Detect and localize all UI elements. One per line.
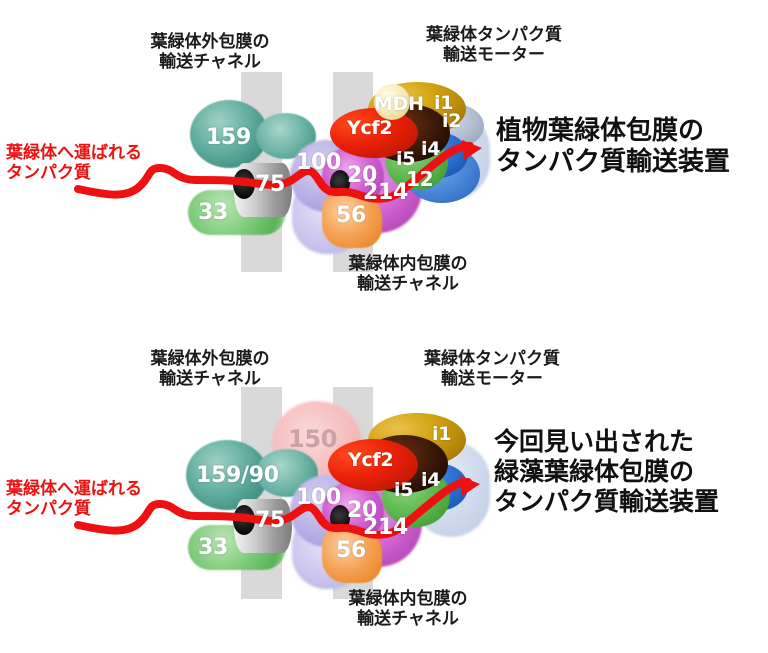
outer-membrane-pore (233, 505, 255, 535)
label-toc33: 33 (198, 535, 228, 560)
label-i5: i5 (394, 479, 413, 501)
label-tic100: 100 (296, 150, 341, 175)
label-tic12: 12 (406, 167, 433, 191)
label-i4: i4 (421, 138, 440, 160)
caption-outer-channel-top: 葉緑体外包膜の 輸送チャネル (112, 32, 308, 72)
label-ycf2: Ycf2 (348, 449, 393, 471)
label-toc150-absent: 150 (288, 425, 337, 453)
caption-motor-bottom: 葉緑体タンパク質 輸送モーター (390, 349, 594, 389)
caption-inner-channel-bottom: 葉緑体内包膜の 輸送チャネル (312, 589, 504, 629)
diagram-stage-plant: 159 75 33 100 20 214 56 MDH Ycf2 i1 i2 i… (0, 0, 768, 326)
caption-outer-channel-bottom: 葉緑体外包膜の 輸送チャネル (112, 349, 308, 389)
panel-title-green-alga: 今回見い出された 緑藻葉緑体包膜の タンパク質輸送装置 (494, 427, 766, 517)
label-i2: i2 (442, 110, 461, 132)
label-ycf2: Ycf2 (347, 117, 392, 139)
label-toc75: 75 (255, 508, 285, 533)
caption-cargo-protein-top: 葉緑体へ運ばれる タンパク質 (6, 143, 160, 183)
label-i1: i1 (432, 423, 451, 445)
label-toc33: 33 (198, 200, 228, 225)
diagram-stage-green-alga: 150 159/90 75 33 100 20 214 56 Ycf2 i1 i… (0, 327, 768, 653)
label-tic100: 100 (296, 485, 341, 510)
outer-membrane-pore (233, 169, 255, 199)
label-tic214: 214 (363, 515, 408, 540)
caption-inner-channel-top: 葉緑体内包膜の 輸送チャネル (312, 254, 504, 294)
panel-title-plant: 植物葉緑体包膜の タンパク質輸送装置 (496, 116, 764, 178)
label-tic56: 56 (336, 538, 366, 563)
label-toc159: 159 (206, 125, 251, 150)
label-mdh: MDH (374, 93, 424, 115)
label-tic214: 214 (363, 180, 408, 205)
label-tic56: 56 (336, 203, 366, 228)
caption-motor-top: 葉緑体タンパク質 輸送モーター (392, 25, 596, 65)
panel-green-alga-translocon: 150 159/90 75 33 100 20 214 56 Ycf2 i1 i… (0, 327, 768, 653)
caption-cargo-protein-bottom: 葉緑体へ運ばれる タンパク質 (6, 479, 160, 519)
label-i4: i4 (421, 469, 440, 491)
panel-plant-translocon: 159 75 33 100 20 214 56 MDH Ycf2 i1 i2 i… (0, 0, 768, 326)
label-toc75: 75 (255, 172, 285, 197)
label-toc159-90: 159/90 (196, 463, 279, 488)
